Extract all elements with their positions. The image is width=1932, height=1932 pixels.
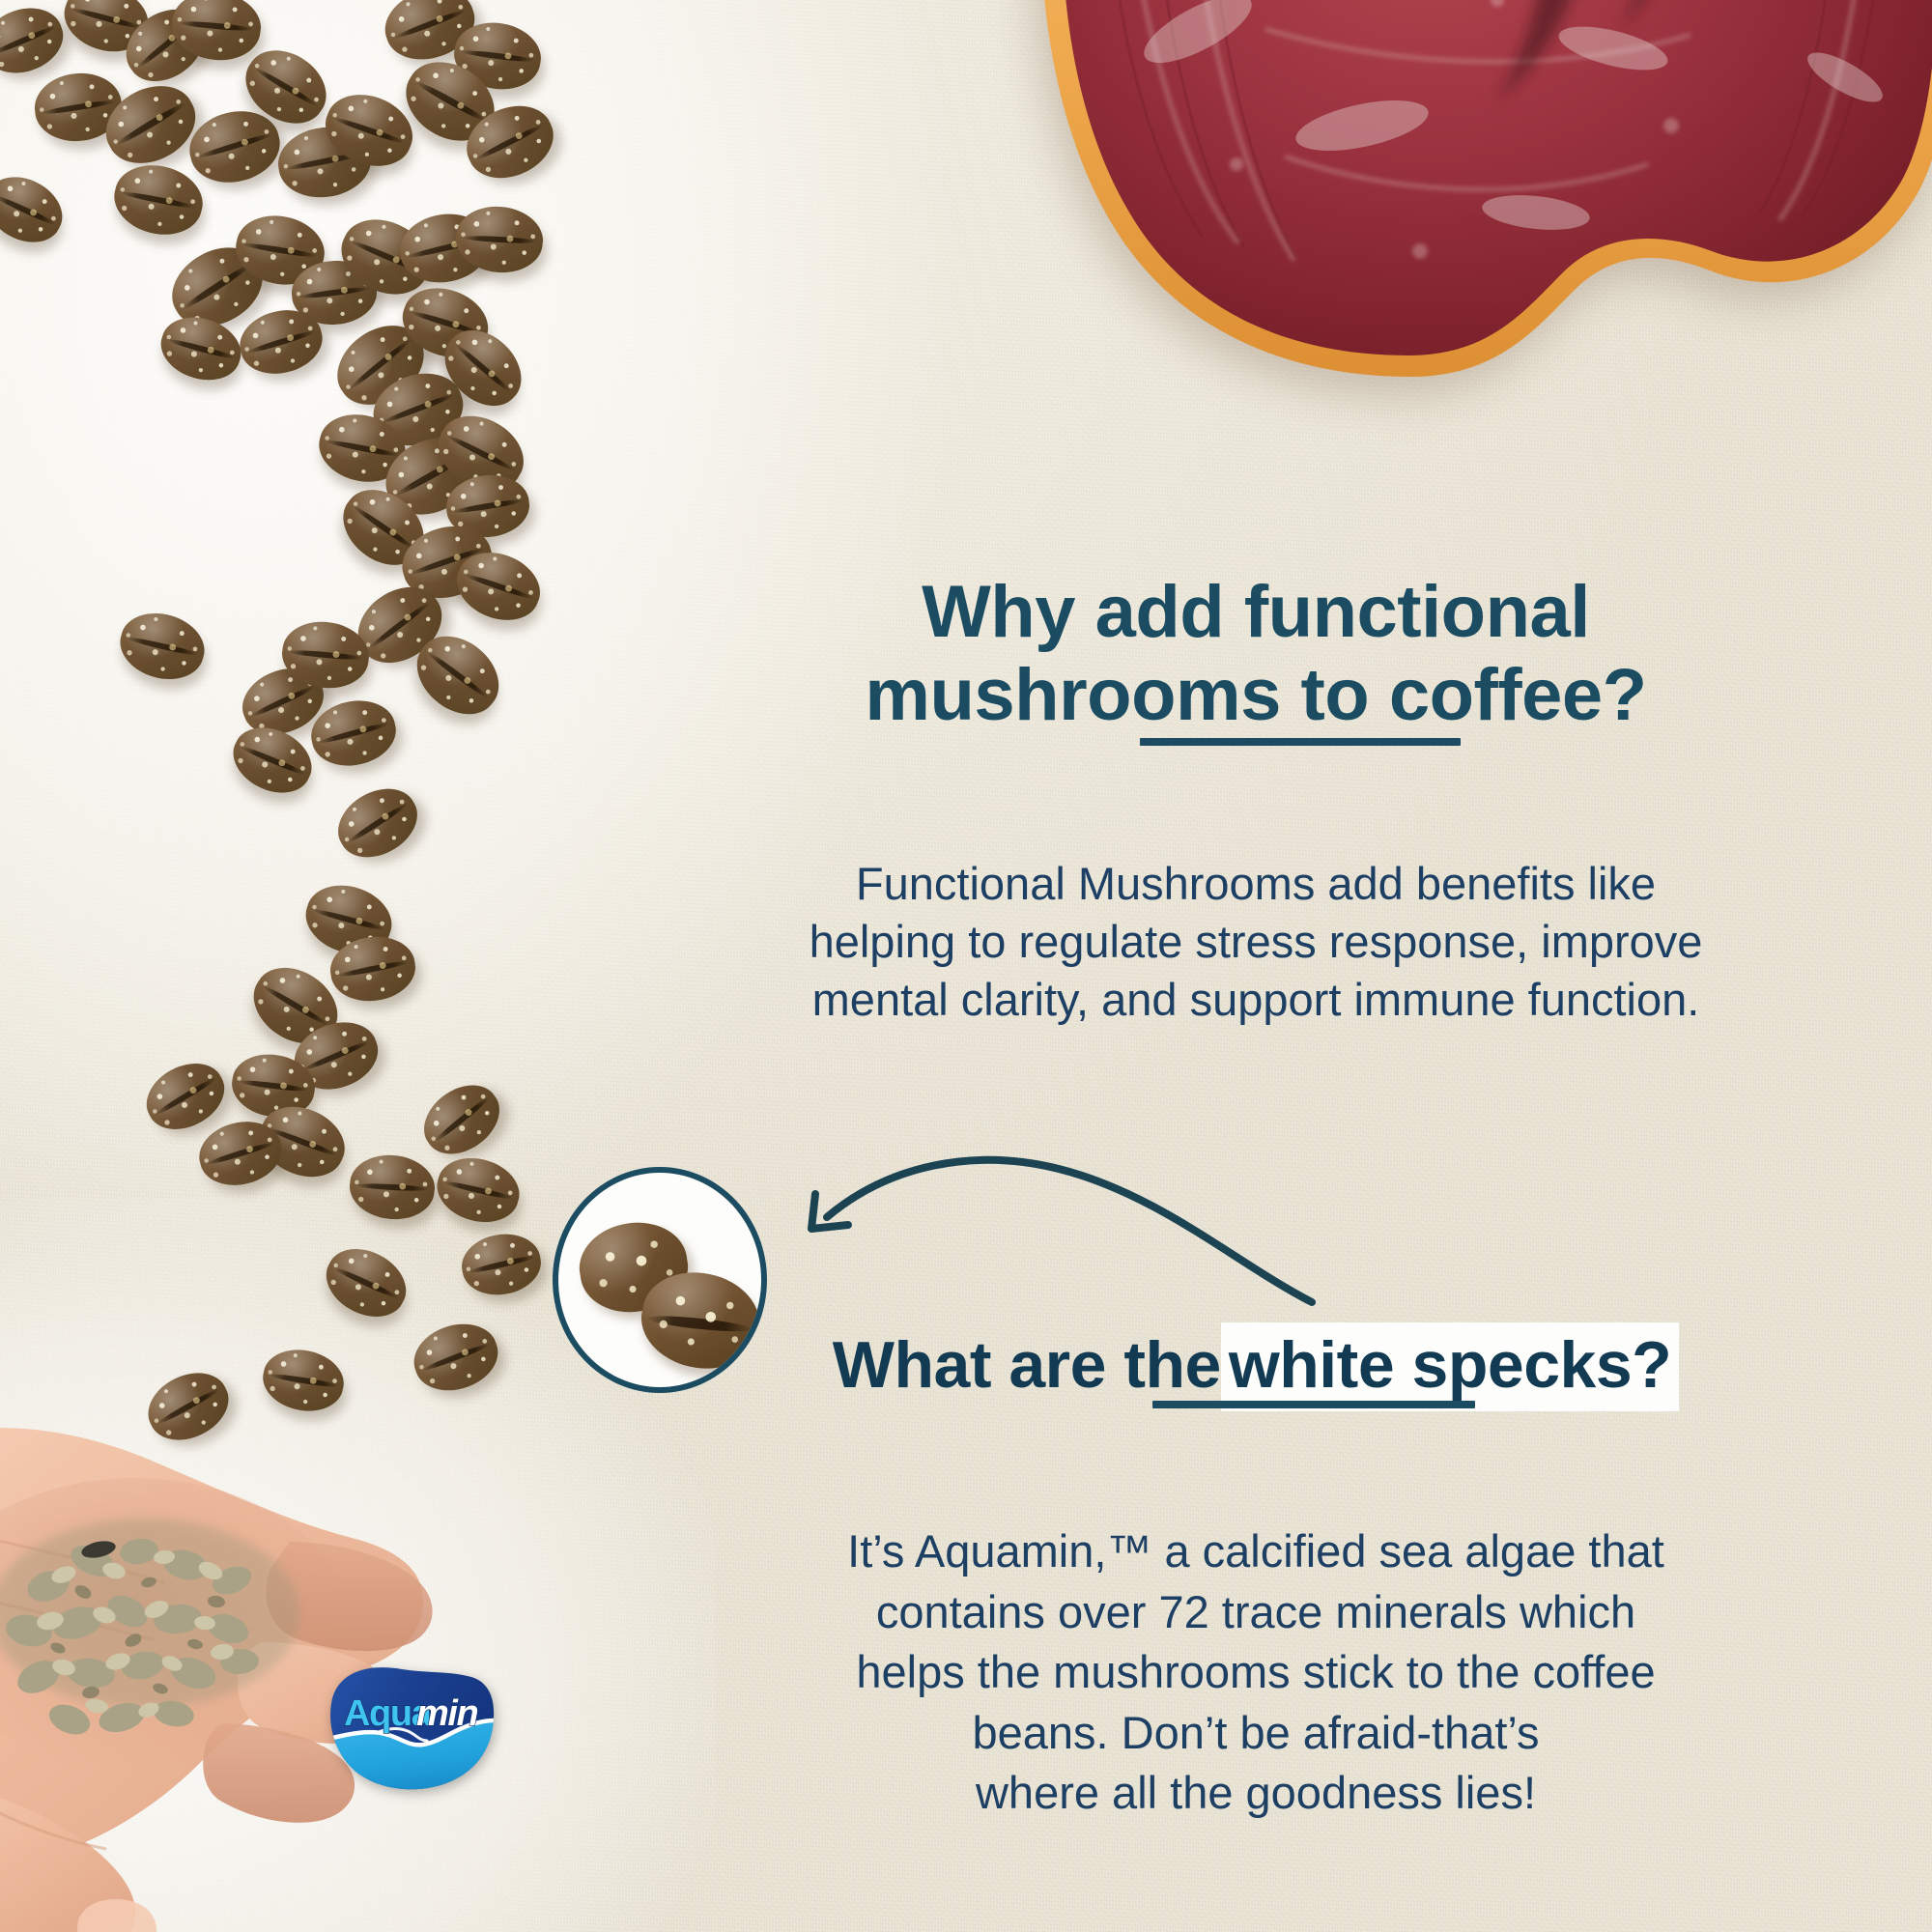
aquamin-logo: Aqua min [327,1652,498,1795]
divider-white-specks [1152,1401,1475,1408]
body-2-line-1: It’s Aquamin,™ a calcified sea algae tha… [847,1525,1664,1577]
body-1-line-1: Functional Mushrooms add benefits like [856,858,1656,909]
body-text-white-specks: It’s Aquamin,™ a calcified sea algae tha… [580,1521,1932,1824]
headline-1-line-2: mushrooms to coffee? [865,654,1646,736]
body-2-line-3: helps the mushrooms stick to the coffee [856,1646,1655,1697]
divider-why-mushrooms [1140,738,1461,746]
body-1-line-2: helping to regulate stress response, imp… [810,916,1703,967]
page-title-why-mushrooms: Why add functional mushrooms to coffee? [580,571,1932,737]
body-2-line-5: where all the goodness lies! [976,1767,1536,1818]
body-1-line-3: mental clarity, and support immune funct… [812,974,1700,1025]
aquamin-logo-text-min: min [416,1693,478,1734]
headline-2-plain: What are the [833,1328,1221,1402]
infographic-canvas: Aqua min Why add functional mushrooms to… [0,0,1932,1932]
headline-1-line-1: Why add functional [922,571,1590,653]
text-content-column: Why add functional mushrooms to coffee? … [580,0,1932,1932]
hand-holding-granules-image [0,1333,483,1932]
body-2-line-2: contains over 72 trace minerals which [876,1586,1635,1637]
headline-2-highlight: white specks? [1221,1322,1679,1411]
page-title-white-specks: What are thewhite specks? [580,1327,1932,1403]
body-2-line-4: beans. Don’t be afraid-that’s [973,1707,1540,1758]
body-text-why-mushrooms: Functional Mushrooms add benefits like h… [580,855,1932,1029]
